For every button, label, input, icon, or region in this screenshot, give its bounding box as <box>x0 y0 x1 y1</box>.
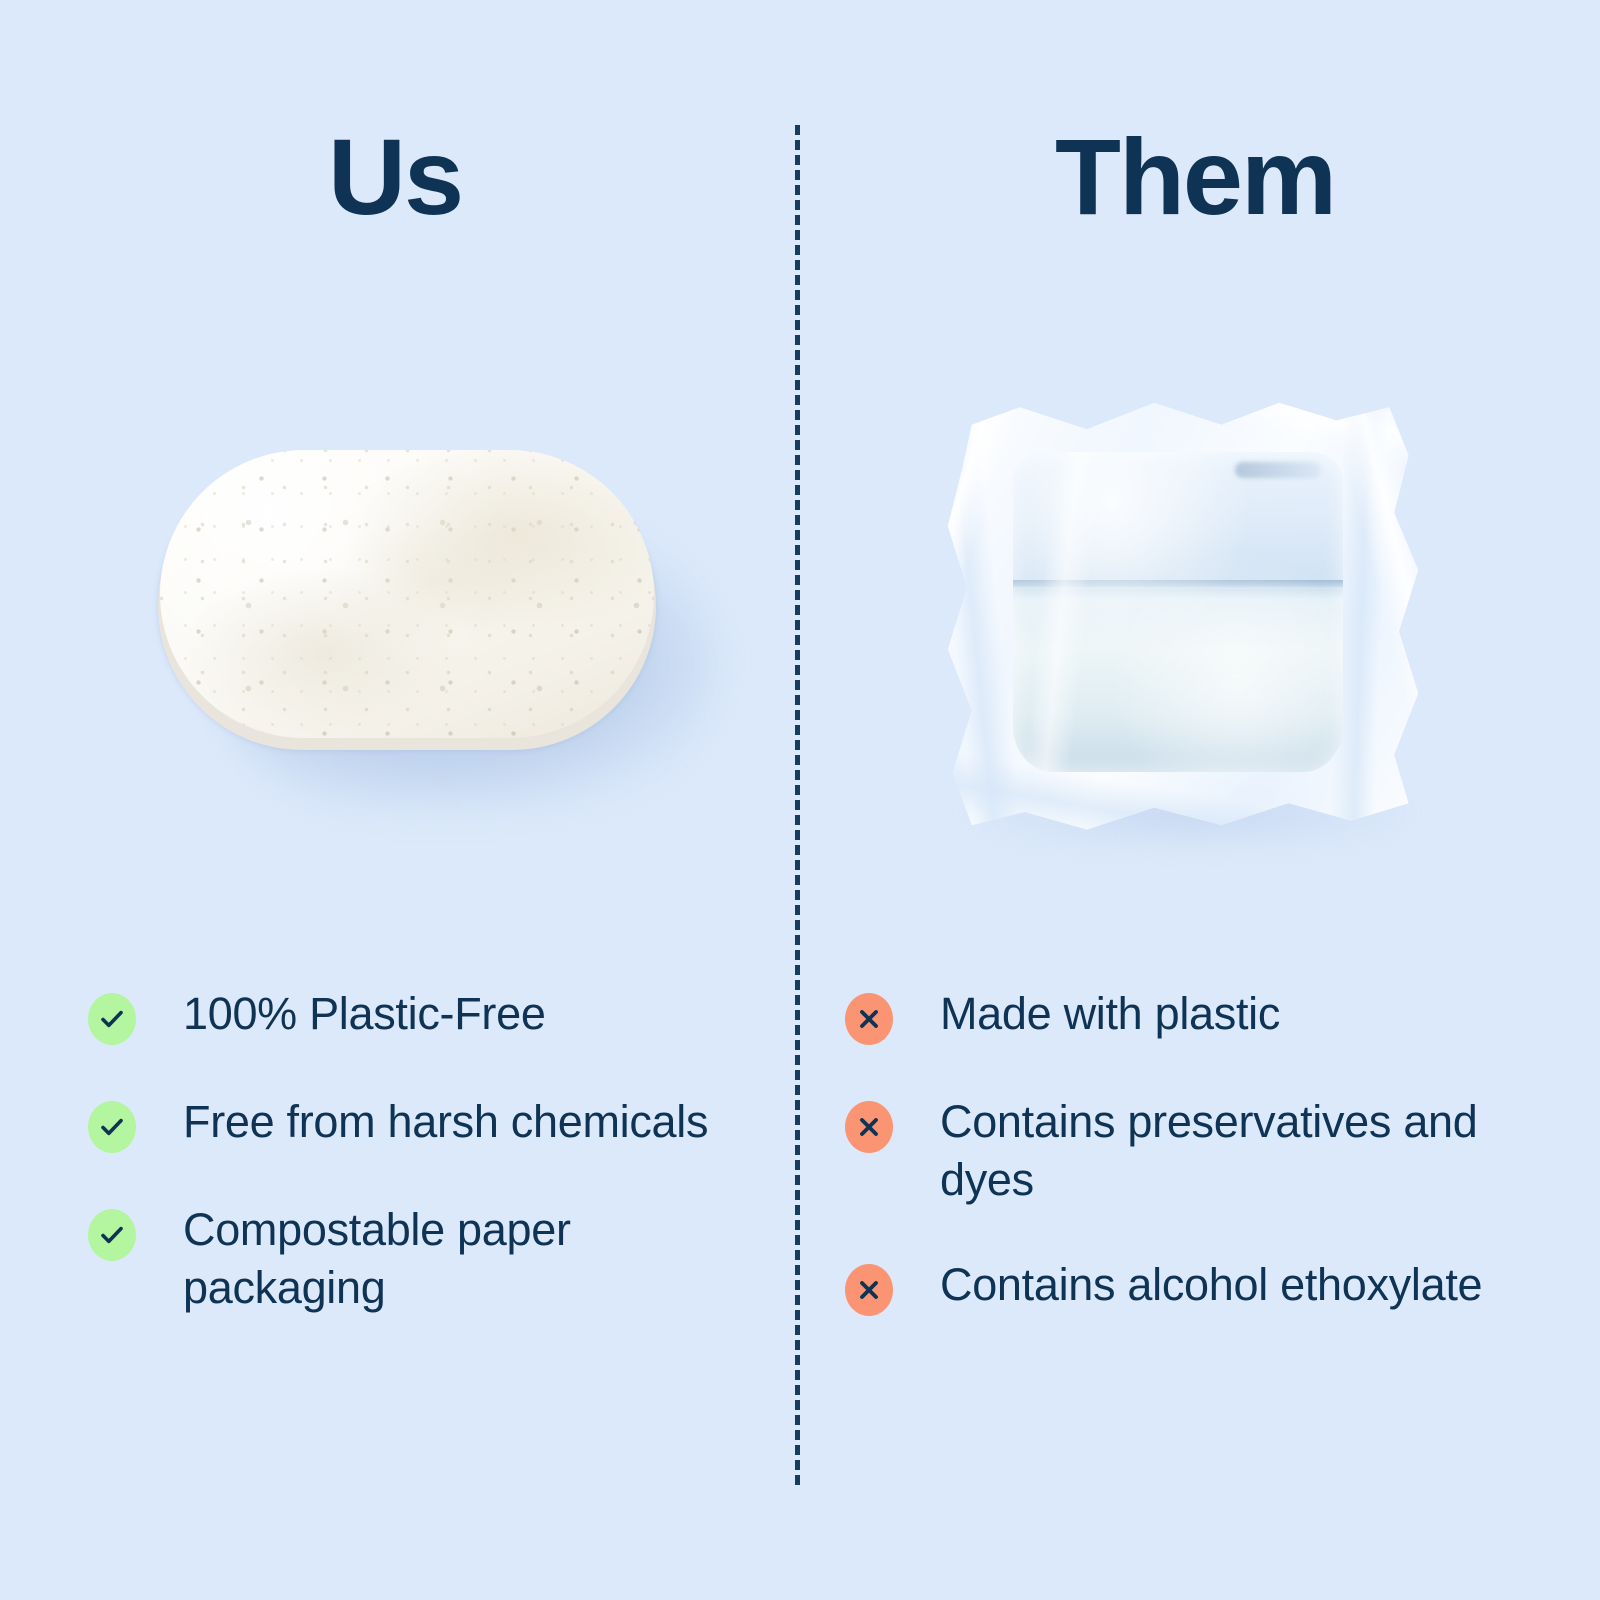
pod-liquid-fill <box>1013 452 1343 772</box>
product-image-plastic-pod <box>935 380 1435 860</box>
list-item: Made with plastic <box>845 985 1485 1045</box>
list-item: Free from harsh chemicals <box>88 1093 728 1153</box>
check-icon <box>88 993 136 1045</box>
list-item-label: Contains alcohol ethoxylate <box>940 1256 1482 1314</box>
benefits-list-us: 100% Plastic-Free Free from harsh chemic… <box>88 985 728 1316</box>
vertical-dashed-divider <box>795 125 800 1485</box>
list-item: 100% Plastic-Free <box>88 985 728 1045</box>
column-heading-them: Them <box>800 118 1590 237</box>
tablet-top-face <box>160 450 654 738</box>
check-icon <box>88 1209 136 1261</box>
list-item: Contains preservatives and dyes <box>845 1093 1485 1208</box>
pod-film-seam <box>1235 462 1321 478</box>
list-item-label: Made with plastic <box>940 985 1280 1043</box>
cross-icon <box>845 1264 893 1316</box>
cross-icon <box>845 993 893 1045</box>
product-image-tablet <box>150 440 710 830</box>
drawbacks-list-them: Made with plastic Contains preservatives… <box>845 985 1485 1316</box>
list-item: Contains alcohol ethoxylate <box>845 1256 1485 1316</box>
list-item-label: Free from harsh chemicals <box>183 1093 708 1151</box>
list-item-label: 100% Plastic-Free <box>183 985 546 1043</box>
cross-icon <box>845 1101 893 1153</box>
list-item: Compostable paper packaging <box>88 1201 728 1316</box>
list-item-label: Compostable paper packaging <box>183 1201 728 1316</box>
comparison-infographic: Us Them 100% Plastic-Free <box>0 0 1600 1600</box>
column-heading-us: Us <box>0 118 790 237</box>
check-icon <box>88 1101 136 1153</box>
list-item-label: Contains preservatives and dyes <box>940 1093 1485 1208</box>
